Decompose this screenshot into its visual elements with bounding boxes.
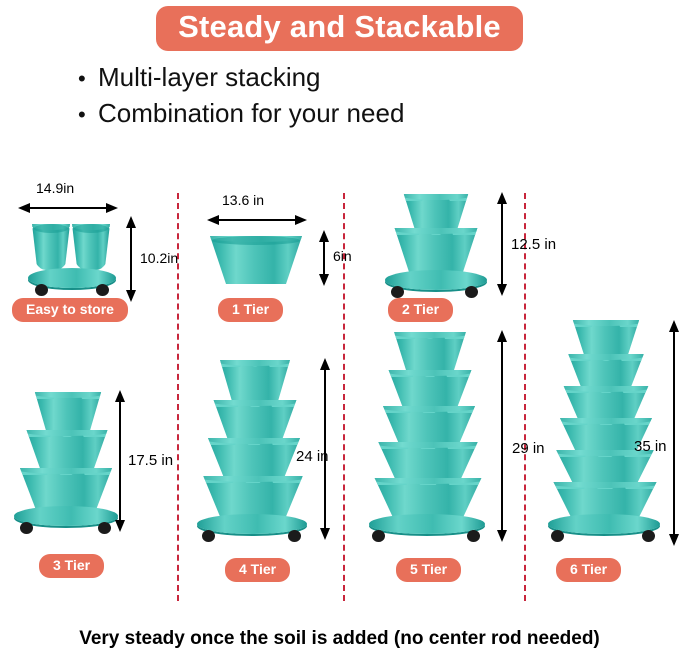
pot-rim (29, 387, 107, 398)
caster-wheel-icon (467, 530, 480, 542)
status-badge-3-tier: 3 Tier (39, 554, 104, 578)
width-dimension-arrow-icon (18, 201, 118, 215)
product-image-easy-to-store (28, 218, 118, 308)
list-item: • Multi-layer stacking (78, 60, 598, 96)
status-badge-easy-to-store: Easy to store (12, 298, 128, 322)
product-cell-5-tier: 29 in 5 Tier (343, 318, 524, 608)
wheeled-saucer (369, 514, 485, 534)
caster-wheel-icon (98, 522, 111, 534)
height-dimension-label: 12.5 in (511, 236, 556, 253)
planter-pot (391, 228, 481, 272)
pot-rim (388, 327, 472, 338)
height-dimension-arrow-icon (124, 216, 138, 302)
width-dimension-label: 14.9in (36, 180, 74, 196)
planter-pot (32, 224, 70, 270)
status-badge-4-tier: 4 Tier (225, 558, 290, 582)
planter-pot (401, 194, 471, 230)
planter-pot (379, 406, 479, 444)
product-cell-2-tier: 12.5 in 2 Tier (343, 168, 524, 338)
bullet-text: Multi-layer stacking (98, 60, 598, 94)
pot-mouth (74, 224, 107, 233)
status-badge-1-tier: 1 Tier (218, 298, 283, 322)
planter-pot (370, 478, 486, 518)
caster-wheel-icon (551, 530, 564, 542)
planter-pot (16, 468, 116, 510)
feature-bullet-list: • Multi-layer stacking • Combination for… (78, 60, 598, 132)
height-dimension-label: 24 in (296, 448, 329, 465)
caster-wheel-icon (391, 286, 404, 298)
planter-pot (374, 442, 482, 480)
page-title: Steady and Stackable (156, 6, 523, 51)
height-dimension-label: 35 in (634, 438, 667, 455)
product-cell-1-tier: 13.6 in 6in 1 Tier (177, 168, 343, 338)
bullet-dot-icon: • (78, 98, 98, 132)
planter-pot (552, 450, 658, 484)
width-dimension-arrow-icon (207, 213, 307, 227)
planter-pot (206, 236, 306, 284)
product-cell-3-tier: 17.5 in 3 Tier (0, 378, 177, 608)
planter-pot (23, 430, 111, 470)
status-badge-6-tier: 6 Tier (556, 558, 621, 582)
product-image-1-tier (200, 230, 312, 290)
planter-pot (210, 400, 300, 440)
footer-caption: Very steady once the soil is added (no c… (0, 628, 679, 650)
pot-rim (214, 355, 296, 366)
pot-rim (567, 315, 645, 326)
planter-pot (217, 360, 293, 402)
height-dimension-label: 10.2in (140, 250, 178, 266)
caster-wheel-icon (20, 522, 33, 534)
height-dimension-label: 17.5 in (128, 452, 173, 469)
caster-wheel-icon (202, 530, 215, 542)
planter-pot (32, 392, 104, 432)
product-image-5-tier (369, 328, 487, 543)
caster-wheel-icon (96, 284, 109, 296)
status-badge-5-tier: 5 Tier (396, 558, 461, 582)
height-dimension-arrow-icon (667, 320, 679, 546)
product-image-6-tier (548, 318, 660, 548)
planter-pot (72, 224, 110, 270)
bullet-text: Combination for your need (98, 96, 598, 130)
width-dimension-label: 13.6 in (222, 192, 264, 208)
planter-pot (565, 354, 647, 388)
height-dimension-arrow-icon (317, 230, 331, 286)
planter-pot (570, 320, 642, 356)
planter-pot (560, 386, 652, 420)
planter-pot (199, 476, 307, 518)
caster-wheel-icon (465, 286, 478, 298)
product-cell-4-tier: 24 in 4 Tier (177, 338, 343, 608)
planter-pot (391, 332, 469, 372)
caster-wheel-icon (35, 284, 48, 296)
pot-mouth (212, 236, 300, 245)
product-cell-easy-to-store: 14.9in 10.2in Easy to store (0, 168, 177, 338)
product-image-2-tier (383, 190, 487, 300)
height-dimension-arrow-icon (495, 192, 509, 296)
product-image-4-tier (197, 356, 309, 546)
caster-wheel-icon (288, 530, 301, 542)
product-image-3-tier (14, 388, 120, 538)
product-cell-6-tier: 35 in 6 Tier (524, 308, 679, 608)
header-title-wrap: Steady and Stackable (0, 6, 679, 51)
height-dimension-arrow-icon (113, 390, 127, 532)
planter-pot (204, 438, 304, 478)
planter-pot (385, 370, 475, 408)
list-item: • Combination for your need (78, 96, 598, 132)
pot-mouth (34, 224, 67, 233)
product-grid: 14.9in 10.2in Easy to store (0, 168, 679, 608)
height-dimension-arrow-icon (495, 330, 509, 542)
caster-wheel-icon (372, 530, 385, 542)
bullet-dot-icon: • (78, 62, 98, 96)
pot-rim (398, 189, 474, 200)
caster-wheel-icon (642, 530, 655, 542)
planter-pot (549, 482, 661, 518)
